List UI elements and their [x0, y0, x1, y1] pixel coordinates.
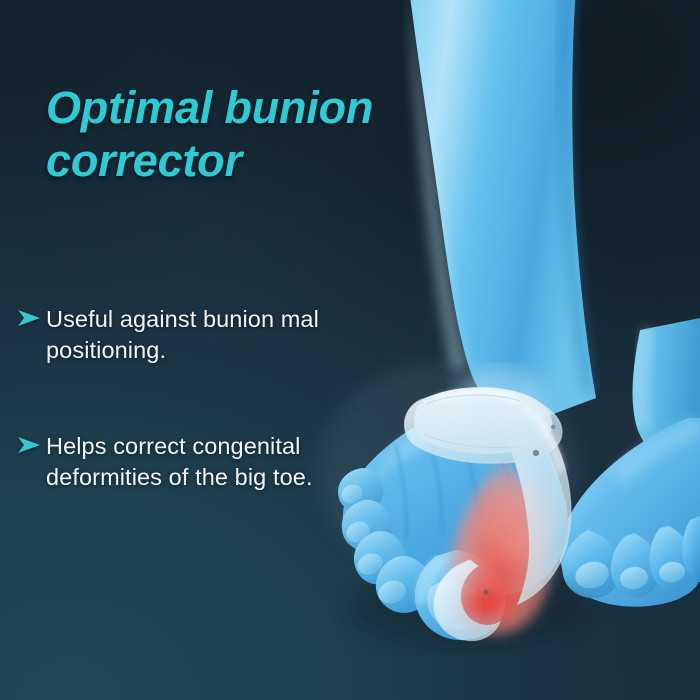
slide-canvas: Optimal bunion corrector Useful against … — [0, 0, 700, 700]
list-item: Useful against bunion mal positioning. — [16, 304, 416, 367]
list-item-label: Useful against bunion mal positioning. — [46, 304, 416, 367]
right-foot — [560, 418, 700, 607]
page-title: Optimal bunion corrector — [46, 82, 436, 187]
arrowhead-bullet-icon — [16, 431, 46, 454]
list-item: Helps correct congenital deformities of … — [16, 431, 416, 494]
list-item-label: Helps correct congenital deformities of … — [46, 431, 416, 494]
feature-bullet-list: Useful against bunion mal positioning. H… — [16, 304, 416, 493]
arrowhead-bullet-icon — [16, 304, 46, 327]
